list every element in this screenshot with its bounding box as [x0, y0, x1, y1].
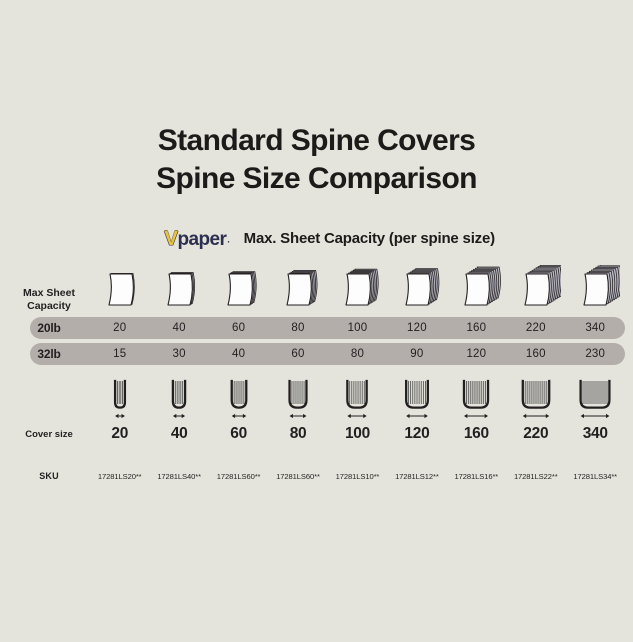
cell-capacity-20lb: 80 — [268, 322, 327, 334]
row-label-cover-size: Cover size — [12, 428, 90, 441]
cell-cover-size: 60 — [209, 425, 268, 443]
spine-cross-section-icon — [387, 377, 446, 421]
paper-stack-glyph — [214, 265, 264, 313]
paper-stack-icon — [387, 263, 446, 313]
row-label-max-sheet-capacity: Max Sheet Capacity — [12, 287, 90, 313]
cell-sku: 17281LS10** — [328, 472, 387, 481]
cell-capacity-20lb: 20 — [90, 322, 149, 334]
cell-cover-size: 80 — [268, 425, 327, 443]
row-label-32lb: 32lb — [12, 348, 90, 361]
cell-capacity-32lb: 120 — [447, 348, 506, 360]
cell-capacity-20lb: 100 — [328, 322, 387, 334]
cell-sku: 17281LS60** — [209, 472, 268, 481]
cell-capacity-32lb: 160 — [506, 348, 565, 360]
value-cells-sku: 17281LS20**17281LS40**17281LS60**17281LS… — [90, 472, 625, 481]
cell-cover-size: 100 — [328, 425, 387, 443]
cell-sku: 17281LS34** — [566, 472, 625, 481]
paper-stack-icon — [149, 263, 208, 313]
title-line-1: Standard Spine Covers — [0, 122, 633, 160]
paper-stack-icon — [209, 263, 268, 313]
cell-capacity-32lb: 30 — [149, 348, 208, 360]
spine-cross-section-icon — [149, 377, 208, 421]
spine-cross-section-glyph — [508, 377, 564, 421]
table-row-32lb: 32lb 153040608090120160230 — [12, 343, 625, 365]
cell-sku: 17281LS16** — [447, 472, 506, 481]
table-row-sku: SKU 17281LS20**17281LS40**17281LS60**172… — [12, 467, 625, 485]
spine-cross-section-icon — [506, 377, 565, 421]
cell-cover-size: 340 — [566, 425, 625, 443]
spine-cross-section-icon — [328, 377, 387, 421]
table-row-paper-icons: Max Sheet Capacity — [12, 263, 625, 313]
subtitle-caption: Max. Sheet Capacity (per spine size) — [244, 230, 495, 247]
paper-stack-icon — [447, 263, 506, 313]
cell-capacity-32lb: 40 — [209, 348, 268, 360]
title-line-2: Spine Size Comparison — [0, 160, 633, 198]
spine-cross-section-glyph — [448, 377, 504, 421]
paper-stack-glyph — [154, 265, 204, 313]
cell-capacity-20lb: 340 — [566, 322, 625, 334]
spine-cross-section-glyph — [151, 377, 207, 421]
cell-cover-size: 20 — [90, 425, 149, 443]
logo-trademark-icon: · — [227, 238, 229, 247]
cell-capacity-32lb: 230 — [566, 348, 625, 360]
table-row-spine-icons — [12, 377, 625, 421]
row-label-sku: SKU — [12, 470, 90, 483]
spine-cross-section-glyph — [270, 377, 326, 421]
cell-capacity-32lb: 90 — [387, 348, 446, 360]
cell-cover-size: 120 — [387, 425, 446, 443]
paper-stack-glyph — [332, 265, 382, 313]
paper-stack-glyph — [511, 265, 561, 313]
cell-cover-size: 160 — [447, 425, 506, 443]
cell-capacity-20lb: 120 — [387, 322, 446, 334]
cell-cover-size: 40 — [149, 425, 208, 443]
spine-cross-section-icon — [447, 377, 506, 421]
cell-capacity-32lb: 60 — [268, 348, 327, 360]
cell-sku: 17281LS20** — [90, 472, 149, 481]
cell-capacity-32lb: 15 — [90, 348, 149, 360]
cell-sku: 17281LS60** — [268, 472, 327, 481]
cell-sku: 17281LS22** — [506, 472, 565, 481]
spine-cross-section-glyph — [389, 377, 445, 421]
spine-icon-cells — [90, 377, 625, 421]
logo-wordmark: paper — [178, 230, 227, 249]
paper-stack-icon — [506, 263, 565, 313]
value-cells-32lb: 153040608090120160230 — [90, 348, 625, 360]
spine-cross-section-glyph — [92, 377, 148, 421]
spine-cross-section-glyph — [329, 377, 385, 421]
spine-cross-section-glyph — [211, 377, 267, 421]
table-row-20lb: 20lb 20406080100120160220340 — [12, 317, 625, 339]
spine-cross-section-glyph — [567, 377, 623, 421]
paper-stack-icon — [268, 263, 327, 313]
comparison-table: Max Sheet Capacity 20lb 2040608010012016… — [0, 263, 633, 485]
spine-comparison-infographic: { "header": { "title_line1": "Standard S… — [0, 0, 633, 642]
value-cells-cover-size: 20406080100120160220340 — [90, 425, 625, 443]
cell-capacity-20lb: 40 — [149, 322, 208, 334]
cell-capacity-20lb: 60 — [209, 322, 268, 334]
spine-cross-section-icon — [566, 377, 625, 421]
cell-capacity-32lb: 80 — [328, 348, 387, 360]
cell-sku: 17281LS12** — [387, 472, 446, 481]
spine-cross-section-icon — [268, 377, 327, 421]
spine-cross-section-icon — [90, 377, 149, 421]
table-row-cover-size: Cover size 20406080100120160220340 — [12, 423, 625, 445]
subtitle-row: V paper · Max. Sheet Capacity (per spine… — [0, 228, 633, 249]
cell-capacity-20lb: 220 — [506, 322, 565, 334]
spine-cross-section-icon — [209, 377, 268, 421]
cell-sku: 17281LS40** — [149, 472, 208, 481]
value-cells-20lb: 20406080100120160220340 — [90, 322, 625, 334]
paper-icon-cells — [90, 263, 625, 313]
paper-stack-glyph — [451, 265, 501, 313]
page-title: Standard Spine Covers Spine Size Compari… — [0, 0, 633, 198]
paper-stack-glyph — [95, 265, 145, 313]
cell-capacity-20lb: 160 — [447, 322, 506, 334]
paper-stack-icon — [328, 263, 387, 313]
cell-cover-size: 220 — [506, 425, 565, 443]
row-label-20lb: 20lb — [12, 322, 90, 335]
row-label-line: Max Sheet Capacity — [23, 287, 75, 312]
paper-stack-icon — [90, 263, 149, 313]
logo-v-mark: V — [164, 228, 177, 249]
vpaper-logo: V paper · — [164, 228, 230, 249]
paper-stack-glyph — [570, 265, 620, 313]
paper-stack-glyph — [273, 265, 323, 313]
paper-stack-icon — [566, 263, 625, 313]
paper-stack-glyph — [392, 265, 442, 313]
